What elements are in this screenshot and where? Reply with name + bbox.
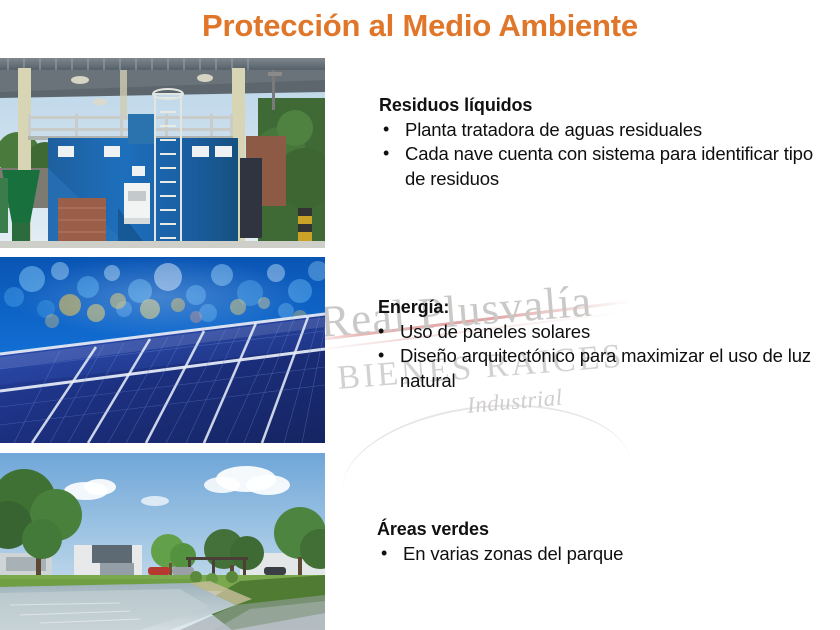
bullet-list-energia: •Uso de paneles solares •Diseño arquitec…: [377, 320, 829, 393]
bullet-list-residuos: •Planta tratadora de aguas residuales •C…: [379, 118, 829, 191]
text-block-residuos-liquidos: Residuos líquidos •Planta tratadora de a…: [379, 94, 829, 191]
bullet-icon: •: [383, 118, 389, 142]
bullet-icon: •: [378, 344, 384, 368]
page-title: Protección al Medio Ambiente: [0, 8, 840, 44]
list-item: •Planta tratadora de aguas residuales: [379, 118, 829, 142]
bullet-icon: •: [383, 142, 389, 166]
list-item-text: Uso de paneles solares: [400, 321, 590, 342]
list-item: •Uso de paneles solares: [377, 320, 829, 344]
watermark-arc-icon: [335, 391, 631, 493]
green-areas-park-image: [0, 453, 325, 630]
bullet-list-areas-verdes: •En varias zonas del parque: [377, 542, 829, 566]
solar-panels-image: [0, 257, 325, 443]
list-item-text: En varias zonas del parque: [403, 543, 623, 564]
wastewater-treatment-plant-image: [0, 58, 325, 248]
list-item-text: Cada nave cuenta con sistema para identi…: [405, 143, 813, 188]
bullet-icon: •: [381, 542, 387, 566]
bullet-icon: •: [378, 320, 384, 344]
heading-areas-verdes: Áreas verdes: [377, 518, 829, 541]
list-item: •En varias zonas del parque: [377, 542, 829, 566]
heading-energia: Energía:: [378, 296, 829, 319]
slide-canvas: Real Plusvalía BIENES RAICES Industrial …: [0, 0, 840, 630]
heading-residuos-liquidos: Residuos líquidos: [379, 94, 829, 117]
list-item: •Cada nave cuenta con sistema para ident…: [379, 142, 829, 191]
text-block-energia: Energía: •Uso de paneles solares •Diseño…: [377, 296, 829, 393]
list-item-text: Planta tratadora de aguas residuales: [405, 119, 702, 140]
text-block-areas-verdes: Áreas verdes •En varias zonas del parque: [377, 518, 829, 566]
list-item-text: Diseño arquitectónico para maximizar el …: [400, 345, 811, 390]
list-item: •Diseño arquitectónico para maximizar el…: [377, 344, 829, 393]
